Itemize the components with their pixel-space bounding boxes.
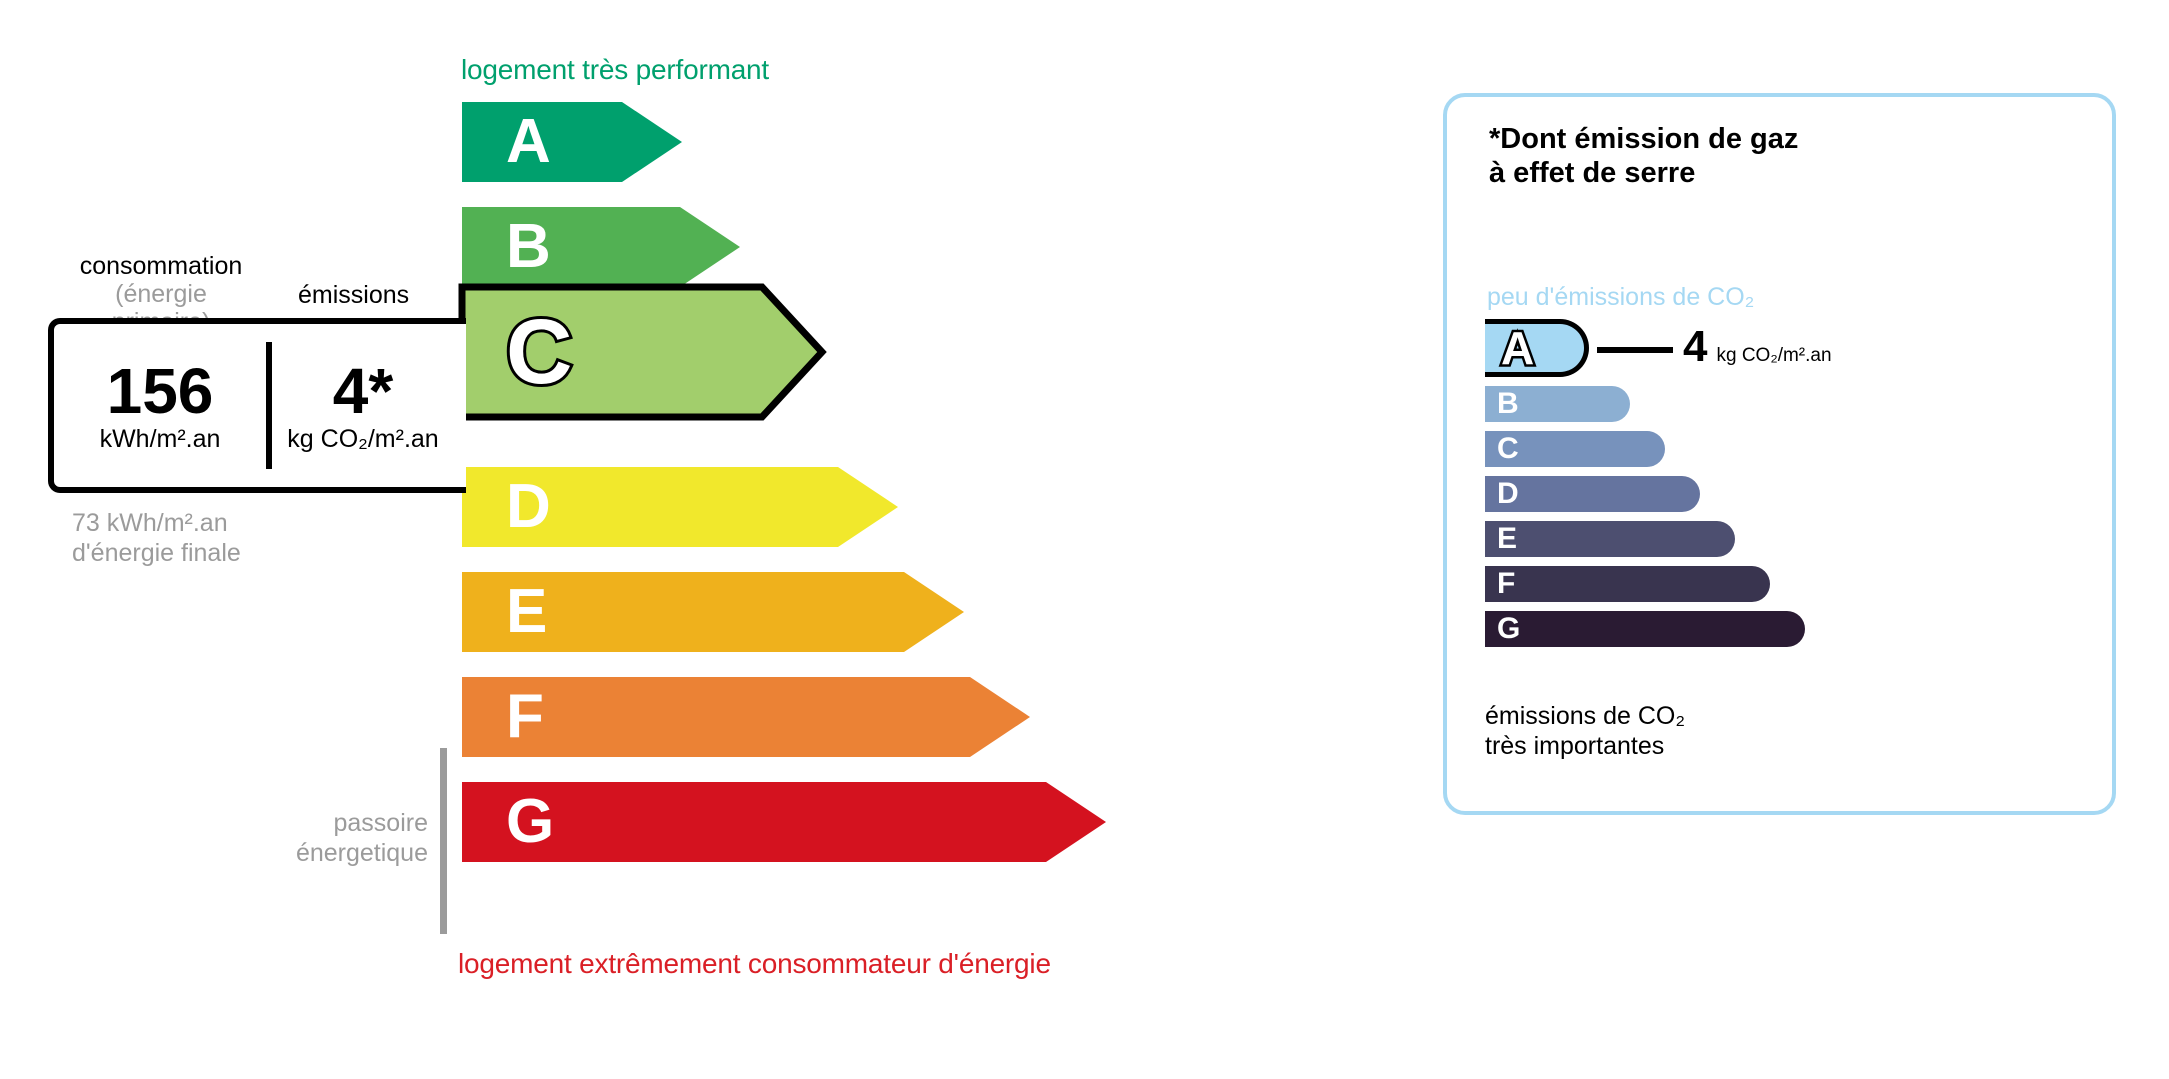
- energy-band-letter-e: E: [506, 581, 547, 643]
- co2-leader-line: [1597, 347, 1673, 353]
- co2-row-d: D: [1485, 476, 2085, 512]
- value-box: 156 kWh/m².an 4* kg CO₂/m².an: [48, 318, 466, 493]
- passoire-label-line2: énergetique: [250, 838, 428, 868]
- co2-bar-e: [1485, 521, 1735, 557]
- energy-band-b: B: [462, 207, 740, 287]
- co2-row-e: E: [1485, 521, 2085, 557]
- co2-row-g: G: [1485, 611, 2085, 647]
- co2-row-f: F: [1485, 566, 2085, 602]
- consumption-unit: kWh/m².an: [100, 427, 221, 452]
- energy-band-e: E: [462, 572, 964, 652]
- co2-bottom-caption: émissions de CO₂ très importantes: [1485, 701, 1685, 761]
- co2-bar-letter-c: C: [1497, 434, 1519, 464]
- passoire-marker-bar: [440, 748, 447, 934]
- co2-bar-letter-d: D: [1497, 479, 1519, 509]
- co2-row-a: A4kg CO₂/m².an: [1485, 319, 2085, 377]
- consumption-label-line1: consommation: [66, 252, 256, 280]
- co2-bar-letter-a: A: [1501, 325, 1534, 371]
- energy-band-letter-g: G: [506, 791, 554, 853]
- co2-row-b: B: [1485, 386, 2085, 422]
- energy-scale-panel: logement très performant ABCDEFG logemen…: [0, 0, 1400, 1079]
- emission-cell: 4* kg CO₂/m².an: [266, 324, 460, 487]
- co2-value-number: 4: [1683, 325, 1707, 369]
- emission-value: 4*: [333, 359, 394, 423]
- co2-bar-g: [1485, 611, 1805, 647]
- co2-row-c: C: [1485, 431, 2085, 467]
- co2-bar-list: A4kg CO₂/m².anBCDEFG: [1485, 319, 2085, 656]
- final-energy-line2: d'énergie finale: [72, 538, 241, 568]
- energy-scale-bottom-caption: logement extrêmement consommateur d'éner…: [458, 948, 1051, 980]
- co2-bar-letter-b: B: [1497, 389, 1519, 419]
- co2-top-caption: peu d'émissions de CO₂: [1487, 283, 1754, 312]
- co2-bar-f: [1485, 566, 1770, 602]
- co2-value-group: 4kg CO₂/m².an: [1683, 325, 1832, 369]
- energy-band-letter-c: C: [506, 306, 572, 398]
- consumption-cell: 156 kWh/m².an: [54, 324, 266, 487]
- co2-panel: *Dont émission de gaz à effet de serre p…: [1443, 93, 2116, 815]
- energy-band-a: A: [462, 102, 682, 182]
- energy-band-f: F: [462, 677, 1030, 757]
- co2-bar-letter-e: E: [1497, 524, 1517, 554]
- energy-band-d: D: [462, 467, 898, 547]
- passoire-label: passoire énergetique: [250, 808, 428, 868]
- energy-band-letter-d: D: [506, 476, 551, 538]
- consumption-value: 156: [107, 359, 214, 423]
- emission-label: émissions: [298, 281, 409, 309]
- energy-band-g: G: [462, 782, 1106, 862]
- energy-band-letter-a: A: [506, 111, 551, 173]
- final-energy-label: 73 kWh/m².an d'énergie finale: [72, 508, 241, 568]
- co2-bottom-caption-line2: très importantes: [1485, 731, 1685, 761]
- co2-bar-letter-g: G: [1497, 614, 1520, 644]
- energy-scale-top-caption: logement très performant: [461, 54, 769, 86]
- co2-bar-letter-f: F: [1497, 569, 1515, 599]
- co2-bottom-caption-line1: émissions de CO₂: [1485, 701, 1685, 731]
- co2-title-line1: *Dont émission de gaz: [1489, 122, 1798, 156]
- co2-title-line2: à effet de serre: [1489, 156, 1798, 190]
- energy-band-c: C: [462, 287, 822, 417]
- passoire-label-line1: passoire: [250, 808, 428, 838]
- energy-band-letter-b: B: [506, 216, 551, 278]
- co2-value-unit: kg CO₂/m².an: [1716, 346, 1831, 365]
- co2-panel-title: *Dont émission de gaz à effet de serre: [1489, 122, 1798, 190]
- final-energy-line1: 73 kWh/m².an: [72, 508, 241, 538]
- dpe-diagram: logement très performant ABCDEFG logemen…: [0, 0, 2169, 1079]
- emission-unit: kg CO₂/m².an: [287, 427, 438, 452]
- energy-band-letter-f: F: [506, 686, 544, 748]
